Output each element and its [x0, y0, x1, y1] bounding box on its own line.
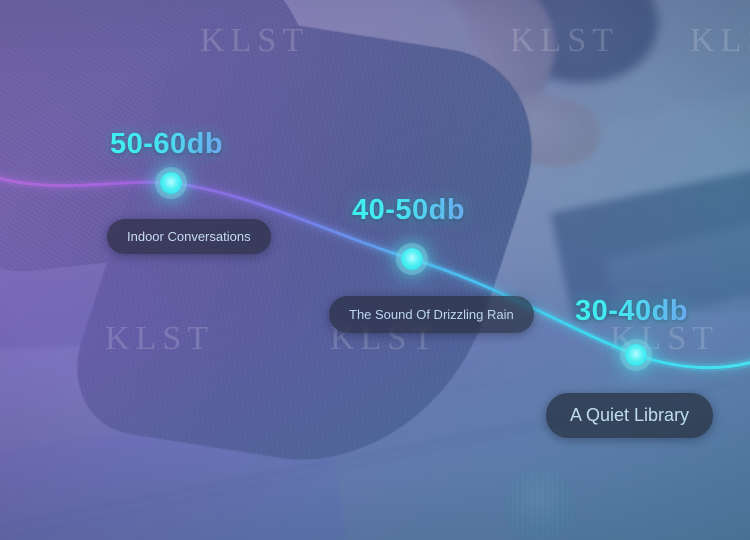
label-indoor-conversations[interactable]: Indoor Conversations	[107, 219, 271, 254]
db-label-30-40: 30-40db	[575, 295, 688, 328]
db-label-50-60: 50-60db	[110, 128, 223, 161]
watermark-klst: KLST	[690, 22, 750, 60]
label-quiet-library[interactable]: A Quiet Library	[546, 393, 713, 438]
label-drizzling-rain[interactable]: The Sound Of Drizzling Rain	[329, 296, 534, 333]
db-label-40-50: 40-50db	[352, 194, 465, 227]
watermark-klst: KLST	[510, 22, 619, 60]
watermark-klst: KLST	[200, 22, 309, 60]
point-50-60db[interactable]	[160, 172, 182, 194]
watermark-klst: KLST	[105, 320, 214, 358]
infographic-canvas: KLSTKLSTKLSTKLSTKLSTKLST 50-60db 40-50db…	[0, 0, 750, 540]
point-30-40db[interactable]	[625, 344, 647, 366]
vignette-overlay	[0, 0, 750, 540]
point-40-50db[interactable]	[401, 248, 423, 270]
